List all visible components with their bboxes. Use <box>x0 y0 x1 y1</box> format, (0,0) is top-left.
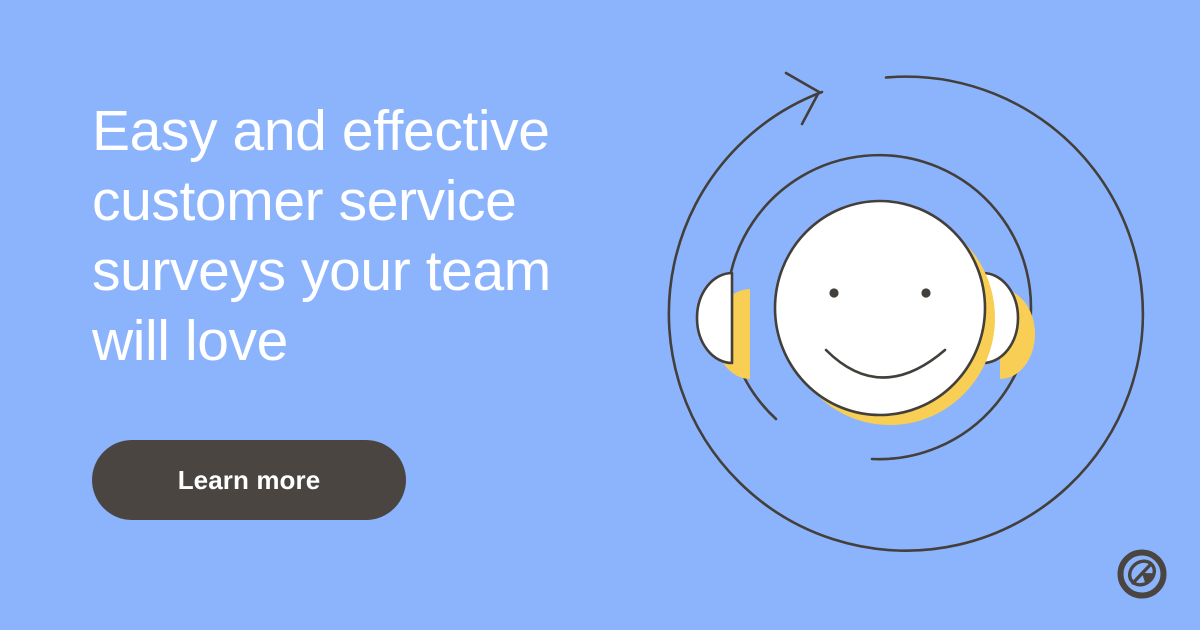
page-title: Easy and effective customer service surv… <box>92 96 602 376</box>
learn-more-button-label: Learn more <box>178 465 321 496</box>
support-agent-illustration-svg <box>600 30 1180 600</box>
left-earcup <box>697 273 750 379</box>
copy-block: Easy and effective customer service surv… <box>92 96 602 376</box>
delighted-logo <box>1116 548 1168 600</box>
left-earcup-body <box>697 273 732 363</box>
right-eye <box>921 288 930 297</box>
promo-banner: Easy and effective customer service surv… <box>0 0 1200 630</box>
face <box>775 201 985 415</box>
hero-illustration <box>600 30 1180 600</box>
left-eye <box>829 288 838 297</box>
learn-more-button[interactable]: Learn more <box>92 440 406 520</box>
delighted-logo-icon <box>1116 548 1168 600</box>
